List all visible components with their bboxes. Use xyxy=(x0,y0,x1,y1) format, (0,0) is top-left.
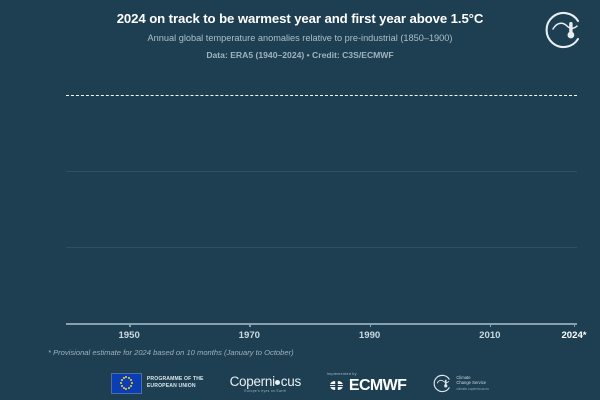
bar-1978 xyxy=(295,287,300,323)
chart-subtitle: Annual global temperature anomalies rela… xyxy=(0,33,600,43)
ecmwf-icon xyxy=(327,379,346,392)
bar-2007 xyxy=(469,217,474,323)
bar-1976 xyxy=(283,309,288,323)
plot-area: 0°C+0.5°C+1.0°C+1.5°C xyxy=(66,80,577,323)
bar-1941 xyxy=(73,290,78,323)
x-axis-label-1970: 1970 xyxy=(239,330,260,341)
ecmwf-implemented-by: Implemented by xyxy=(327,372,357,376)
bar-1968 xyxy=(235,297,240,323)
bar-2011 xyxy=(493,229,498,323)
bar-1992 xyxy=(379,255,384,323)
x-axis-label-1990: 1990 xyxy=(359,330,380,341)
bar-1983 xyxy=(325,253,330,323)
bar-2012 xyxy=(499,220,504,323)
bar-1969 xyxy=(241,285,246,323)
eu-star-icon xyxy=(121,379,123,381)
bar-2016 xyxy=(523,168,528,323)
c3s-thermometer-icon xyxy=(542,8,584,50)
bar-1984 xyxy=(331,284,336,323)
bar-1988 xyxy=(355,255,360,323)
bar-2024 xyxy=(572,89,577,323)
bar-1943 xyxy=(85,293,90,323)
x-axis-label-2024: 2024* xyxy=(561,330,586,341)
eu-star-icon xyxy=(125,376,127,378)
bar-1975 xyxy=(277,297,282,323)
copernicus-mid: operni xyxy=(239,374,275,389)
bar-1962 xyxy=(199,285,204,323)
bar-1940 xyxy=(67,291,72,323)
x-tick-1990 xyxy=(370,323,372,327)
bar-2021 xyxy=(554,185,559,323)
eu-star-icon xyxy=(120,382,122,384)
ecmwf-wordmark: ECMWF xyxy=(349,377,406,395)
eu-logo-text: PROGRAMME OF THE EUROPEAN UNION xyxy=(147,376,204,391)
eu-logo-line2: EUROPEAN UNION xyxy=(147,383,204,390)
bar-1998 xyxy=(415,220,420,323)
eu-star-icon xyxy=(121,385,123,387)
bar-2019 xyxy=(542,171,547,323)
bar-2004 xyxy=(451,227,456,323)
bar-2023 xyxy=(566,139,571,323)
bar-1949 xyxy=(121,302,126,323)
bar-1985 xyxy=(337,285,342,323)
c3s-service-logo: Climate Change Service climate.copernicu… xyxy=(432,373,489,393)
bar-1955 xyxy=(157,305,162,323)
c3s-line2: Change Service xyxy=(456,380,489,386)
copernicus-c: C xyxy=(230,374,239,389)
bar-1961 xyxy=(193,284,198,323)
c3s-thermometer-icon xyxy=(432,373,452,393)
bar-2013 xyxy=(505,215,510,323)
chart-header: 2024 on track to be warmest year and fir… xyxy=(0,0,600,72)
x-tick-1950 xyxy=(129,323,131,327)
bar-1973 xyxy=(265,274,270,323)
bar-1951 xyxy=(133,290,138,323)
copernicus-end: cus xyxy=(281,374,301,389)
c3s-logo-text: Climate Change Service climate.copernicu… xyxy=(456,375,489,392)
bar-2000 xyxy=(427,244,432,323)
bar-1972 xyxy=(259,290,264,323)
bar-2008 xyxy=(475,232,480,323)
bar-1964 xyxy=(211,311,216,323)
bar-2018 xyxy=(536,186,541,323)
copernicus-wordmark: Copernicus xyxy=(230,374,301,389)
bar-1959 xyxy=(181,287,186,323)
eu-flag-icon xyxy=(111,373,142,394)
x-axis-label-2010: 2010 xyxy=(479,330,500,341)
copernicus-tagline: Europe's eyes on Earth xyxy=(244,389,286,393)
bar-1982 xyxy=(319,273,324,323)
bar-2006 xyxy=(463,218,468,323)
eu-star-icon xyxy=(125,388,127,390)
bar-2005 xyxy=(457,212,462,323)
bar-1960 xyxy=(187,291,192,323)
ecmwf-row: ECMWF xyxy=(327,377,406,395)
x-tick-2024 xyxy=(574,323,576,327)
bar-1963 xyxy=(205,282,210,323)
bar-1986 xyxy=(343,277,348,323)
bar-1965 xyxy=(217,303,222,323)
page-title: 2024 on track to be warmest year and fir… xyxy=(0,11,600,26)
eu-star-icon xyxy=(130,379,132,381)
bar-2015 xyxy=(517,185,522,323)
bar-1967 xyxy=(229,296,234,323)
bar-1987 xyxy=(349,258,354,323)
copernicus-dot-icon xyxy=(275,380,280,385)
eu-logo-line1: PROGRAMME OF THE xyxy=(147,376,204,383)
bar-1979 xyxy=(301,273,306,323)
bar-2003 xyxy=(445,220,450,323)
bar-2017 xyxy=(530,177,535,323)
eu-star-icon xyxy=(130,385,132,387)
bar-1993 xyxy=(385,256,390,323)
bar-1948 xyxy=(115,299,120,323)
x-tick-2010 xyxy=(490,323,492,327)
bar-1990 xyxy=(367,247,372,323)
climate-chart-infographic: 2024 on track to be warmest year and fir… xyxy=(0,0,600,400)
bar-1997 xyxy=(409,238,414,323)
bar-1989 xyxy=(361,271,366,323)
bar-1958 xyxy=(175,284,180,323)
x-axis-label-1950: 1950 xyxy=(118,330,139,341)
bar-1996 xyxy=(403,261,408,323)
x-tick-1970 xyxy=(249,323,251,327)
x-axis: 19501970199020102024* xyxy=(66,323,577,349)
chart-footnote: * Provisional estimate for 2024 based on… xyxy=(48,348,294,357)
bar-1942 xyxy=(79,296,84,323)
bar-1954 xyxy=(151,300,156,323)
bar-1977 xyxy=(289,276,294,323)
eu-logo: PROGRAMME OF THE EUROPEAN UNION xyxy=(111,373,204,394)
bar-1999 xyxy=(421,243,426,323)
copernicus-logo: Copernicus Europe's eyes on Earth xyxy=(230,374,301,393)
bar-series xyxy=(66,80,577,323)
c3s-url: climate.copernicus.eu xyxy=(456,387,489,391)
bar-1957 xyxy=(169,288,174,323)
bar-1974 xyxy=(271,303,276,323)
bar-1991 xyxy=(373,247,378,323)
eu-star-icon xyxy=(123,387,125,389)
bar-1994 xyxy=(391,249,396,323)
partner-logo-bar: PROGRAMME OF THE EUROPEAN UNION Copernic… xyxy=(0,366,600,400)
ecmwf-logo: Implemented by ECMWF xyxy=(327,372,406,395)
bar-2002 xyxy=(439,220,444,323)
bar-1956 xyxy=(163,308,168,323)
bar-1944 xyxy=(91,277,96,323)
bar-2009 xyxy=(481,217,486,323)
bar-1970 xyxy=(247,290,252,323)
eu-star-icon xyxy=(131,382,133,384)
bar-2022 xyxy=(560,180,565,323)
bar-1981 xyxy=(313,258,318,323)
bar-2001 xyxy=(433,230,438,323)
bar-1952 xyxy=(139,287,144,323)
bar-2010 xyxy=(487,206,492,323)
bar-1995 xyxy=(397,238,402,323)
bar-1947 xyxy=(109,297,114,323)
bar-1971 xyxy=(253,303,258,323)
bar-2020 xyxy=(548,165,553,323)
bar-1966 xyxy=(223,293,228,323)
eu-star-icon xyxy=(123,377,125,379)
bar-1945 xyxy=(97,288,102,323)
eu-star-icon xyxy=(128,387,130,389)
chart-source-credit: Data: ERA5 (1940–2024) • Credit: C3S/ECM… xyxy=(0,50,600,60)
bar-1950 xyxy=(127,305,132,323)
bar-1946 xyxy=(103,300,108,323)
bar-2014 xyxy=(511,208,516,323)
bar-1980 xyxy=(307,265,312,323)
bar-1953 xyxy=(145,280,150,323)
